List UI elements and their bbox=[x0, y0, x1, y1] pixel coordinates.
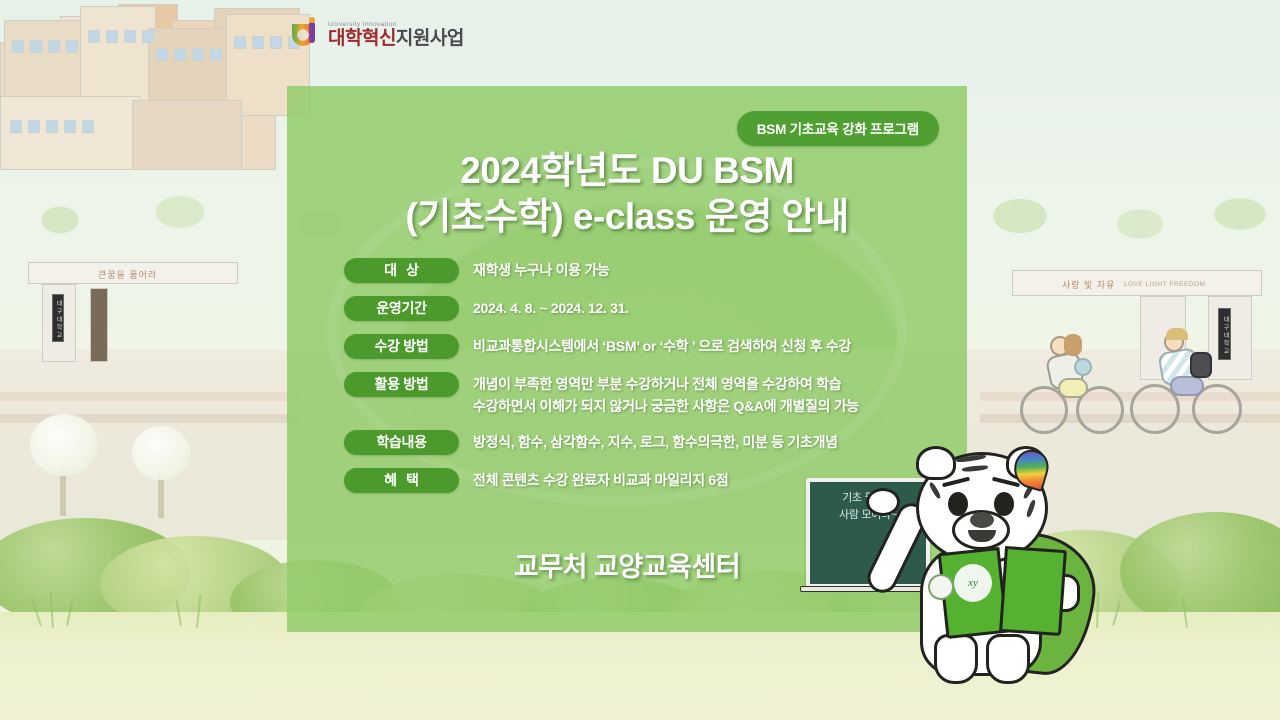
mascot-leg-left bbox=[934, 634, 978, 684]
cyclist-front bbox=[1020, 330, 1140, 440]
info-row-value: 개념이 부족한 영역만 부분 수강하거나 전체 영역을 수강하여 학습수강하면서… bbox=[473, 372, 859, 417]
info-row-value: 전체 콘텐츠 수강 완료자 비교과 마일리지 6점 bbox=[473, 468, 728, 492]
info-row-value-line: 방정식, 함수, 삼각함수, 지수, 로그, 함수의극한, 미분 등 기초개념 bbox=[473, 432, 838, 454]
info-row-value-line: 개념이 부족한 영역만 부분 수강하거나 전체 영역을 수강하여 학습 bbox=[473, 374, 859, 396]
poster-root: 큰꿈을 품어라 대구대학교 사랑 빛 자유 LOVE LIGHT FREEDOM… bbox=[0, 0, 1280, 720]
info-row-value-line: 전체 콘텐츠 수강 완료자 비교과 마일리지 6점 bbox=[473, 470, 728, 492]
right-gate-text-ko: 사랑 빛 자유 bbox=[1062, 278, 1115, 291]
info-row-label: 대상 bbox=[344, 258, 459, 283]
info-row-value-line: 비교과통합시스템에서 ‘BSM’ or ‘수학 ’ 으로 검색하여 신청 후 수… bbox=[473, 336, 851, 358]
book-label-y: y bbox=[973, 578, 978, 588]
info-row-value: 비교과통합시스템에서 ‘BSM’ or ‘수학 ’ 으로 검색하여 신청 후 수… bbox=[473, 334, 851, 358]
right-gate-text-en: LOVE LIGHT FREEDOM bbox=[1124, 281, 1205, 288]
logo-korean-text: 대학혁신지원사업 bbox=[328, 29, 464, 48]
info-row-value: 재학생 누구나 이용 가능 bbox=[473, 258, 610, 282]
logo-korean-red: 대학혁신 bbox=[328, 28, 396, 49]
mascot-medal bbox=[928, 574, 954, 600]
info-row: 대상재학생 누구나 이용 가능 bbox=[344, 258, 953, 283]
right-campus-buildings bbox=[0, 260, 310, 520]
logo-english-text: University Innovation bbox=[328, 21, 464, 28]
mascot-leg-right bbox=[986, 634, 1030, 684]
info-row-value: 방정식, 함수, 삼각함수, 지수, 로그, 함수의극한, 미분 등 기초개념 bbox=[473, 430, 838, 454]
info-row-value-line: 2024. 4. 8. ~ 2024. 12. 31. bbox=[473, 298, 629, 320]
info-row-value-line: 재학생 누구나 이용 가능 bbox=[473, 260, 610, 282]
info-row-list: 대상재학생 누구나 이용 가능운영기간2024. 4. 8. ~ 2024. 1… bbox=[344, 258, 953, 506]
logo-korean-gray: 지원사업 bbox=[396, 28, 464, 49]
title-line-1: 2024학년도 DU BSM bbox=[287, 148, 967, 194]
logo-text-block: University Innovation 대학혁신지원사업 bbox=[328, 21, 464, 48]
info-row: 학습내용방정식, 함수, 삼각함수, 지수, 로그, 함수의극한, 미분 등 기… bbox=[344, 430, 953, 455]
mascot-ear-left bbox=[916, 446, 956, 480]
title-line-2: (기초수학) e-class 운영 안내 bbox=[287, 194, 967, 240]
program-badge: BSM 기초교육 강화 프로그램 bbox=[737, 111, 939, 146]
info-row-label: 수강 방법 bbox=[344, 334, 459, 359]
info-row-value-line: 수강하면서 이해가 되지 않거나 궁금한 사항은 Q&A에 개별질의 가능 bbox=[473, 396, 859, 418]
university-innovation-logo: University Innovation 대학혁신지원사업 bbox=[292, 18, 464, 50]
info-row: 수강 방법비교과통합시스템에서 ‘BSM’ or ‘수학 ’ 으로 검색하여 신… bbox=[344, 334, 953, 359]
mascot-raised-paw bbox=[866, 488, 900, 516]
cyclist-back bbox=[1130, 328, 1260, 440]
uj-logo-mark-icon bbox=[292, 18, 322, 50]
mascot-nose bbox=[970, 512, 994, 528]
mascot-book-xy-badge: xy bbox=[954, 564, 992, 602]
info-row: 운영기간2024. 4. 8. ~ 2024. 12. 31. bbox=[344, 296, 953, 321]
page-title: 2024학년도 DU BSM (기초수학) e-class 운영 안내 bbox=[287, 148, 967, 240]
info-row-label: 운영기간 bbox=[344, 296, 459, 321]
info-row-label: 활용 방법 bbox=[344, 372, 459, 397]
mascot-book-right-page bbox=[999, 546, 1067, 636]
info-row-label: 혜택 bbox=[344, 468, 459, 493]
info-row-value: 2024. 4. 8. ~ 2024. 12. 31. bbox=[473, 296, 629, 320]
info-row: 활용 방법개념이 부족한 영역만 부분 수강하거나 전체 영역을 수강하여 학습… bbox=[344, 372, 953, 417]
white-tiger-mascot: xy bbox=[890, 448, 1130, 710]
info-row-label: 학습내용 bbox=[344, 430, 459, 455]
